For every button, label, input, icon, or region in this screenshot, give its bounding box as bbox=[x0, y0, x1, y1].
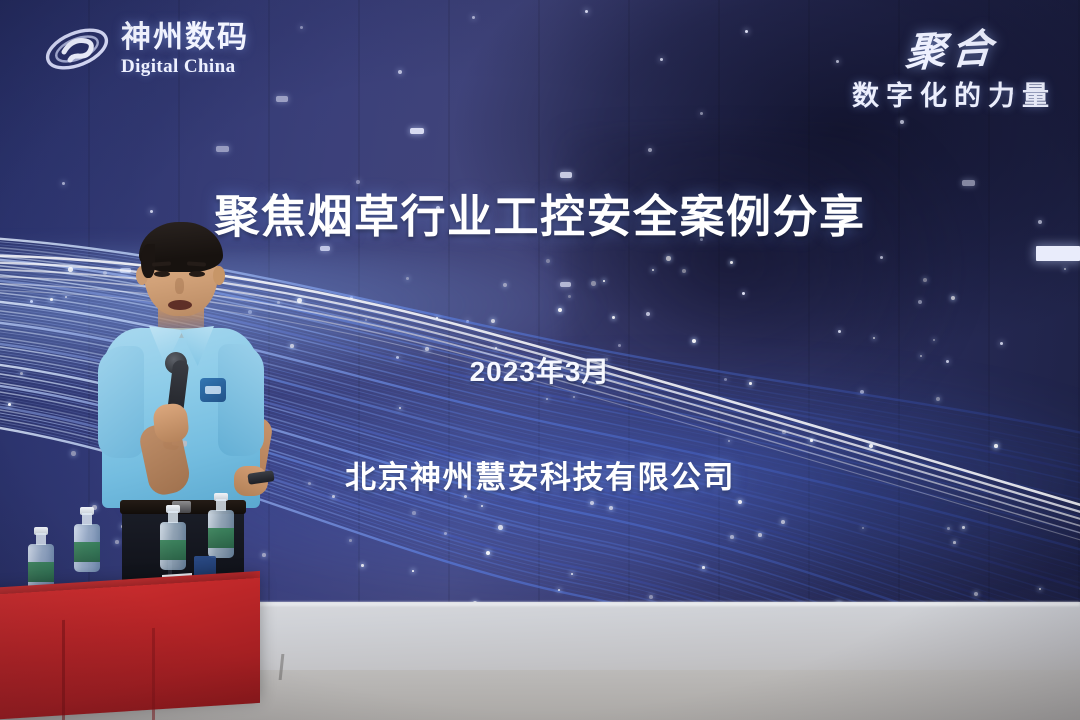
wave-sparkle bbox=[436, 317, 438, 319]
wave-sparkle bbox=[951, 296, 955, 300]
wave-sparkle bbox=[277, 301, 280, 304]
wave-sparkle bbox=[974, 592, 978, 596]
bottle-neck bbox=[216, 499, 226, 511]
wave-sparkle bbox=[412, 570, 414, 572]
wave-sparkle bbox=[873, 337, 875, 339]
wave-sparkle bbox=[65, 296, 67, 298]
bottle-body bbox=[208, 510, 234, 558]
speaker-right-hand bbox=[152, 402, 190, 443]
wave-sparkle bbox=[782, 430, 786, 434]
wave-sparkle bbox=[349, 539, 352, 542]
digital-china-logo: 神州数码 Digital China bbox=[42, 18, 249, 80]
wave-sparkle bbox=[730, 535, 734, 539]
wave-sparkle bbox=[666, 256, 671, 261]
wave-sparkle bbox=[399, 407, 401, 409]
wave-sparkle bbox=[361, 564, 364, 567]
wave-sparkle bbox=[612, 316, 615, 319]
bottle-neck bbox=[168, 511, 178, 523]
wave-sparkle bbox=[573, 396, 575, 398]
logo-name-cn: 神州数码 bbox=[121, 23, 249, 53]
slogan-subtitle: 数字化的力量 bbox=[852, 74, 1056, 113]
conference-stage-photo: 神州数码 Digital China 聚合 数字化的力量 聚焦烟草行业工控安全案… bbox=[0, 0, 1080, 720]
bottle-body bbox=[74, 524, 100, 572]
wave-sparkle bbox=[728, 440, 730, 442]
wave-sparkle bbox=[994, 444, 998, 448]
wave-sparkle bbox=[558, 589, 560, 591]
wave-sparkle bbox=[730, 261, 733, 264]
wave-sparkle bbox=[50, 298, 53, 301]
wave-sparkle bbox=[591, 281, 596, 286]
wave-sparkle bbox=[933, 339, 935, 341]
wave-sparkle bbox=[738, 500, 742, 504]
wave-sparkle bbox=[953, 541, 956, 544]
wave-sparkle bbox=[558, 308, 562, 312]
wave-sparkle bbox=[702, 566, 705, 569]
speaker-nose bbox=[175, 278, 184, 294]
wave-sparkle bbox=[481, 505, 483, 507]
wave-sparkle bbox=[568, 295, 571, 298]
table-drape-fold bbox=[152, 628, 155, 720]
wave-sparkle bbox=[365, 319, 367, 321]
speaker-eye-right bbox=[189, 271, 205, 277]
speaker-mouth bbox=[168, 300, 192, 310]
wave-sparkle bbox=[810, 439, 813, 442]
wave-sparkle bbox=[862, 527, 864, 529]
wave-sparkle bbox=[947, 527, 950, 530]
wave-sparkle bbox=[546, 259, 550, 263]
swirl-galaxy-logo-icon bbox=[42, 18, 112, 80]
event-slogan: 聚合 数字化的力量 bbox=[852, 18, 1056, 113]
bottle-label bbox=[160, 540, 186, 560]
table-drape-fold bbox=[62, 620, 65, 720]
wave-sparkle bbox=[406, 277, 409, 280]
wave-sparkle bbox=[486, 551, 490, 555]
wave-sparkle bbox=[498, 525, 503, 530]
wave-sparkle bbox=[962, 526, 965, 529]
wave-sparkle bbox=[290, 344, 294, 348]
wave-sparkle bbox=[649, 595, 653, 599]
wave-sparkle bbox=[68, 267, 73, 272]
wave-sparkle bbox=[590, 501, 594, 505]
bottle-label bbox=[208, 528, 234, 548]
bottle-body bbox=[160, 522, 186, 570]
wave-sparkle bbox=[609, 506, 613, 510]
wave-sparkle bbox=[503, 283, 507, 287]
screen-edge-light-bar bbox=[1036, 246, 1080, 261]
wave-sparkle bbox=[8, 403, 11, 406]
water-bottle bbox=[74, 524, 100, 572]
wave-sparkle bbox=[546, 398, 548, 400]
wave-sparkle bbox=[936, 397, 940, 401]
bottle-label bbox=[74, 542, 100, 562]
wave-sparkle bbox=[692, 339, 696, 343]
wave-sparkle bbox=[571, 573, 573, 575]
water-bottle bbox=[160, 522, 186, 570]
wave-sparkle bbox=[682, 269, 686, 273]
logo-name-en: Digital China bbox=[121, 57, 249, 76]
speaker-logo-badge bbox=[200, 378, 226, 402]
wave-sparkle bbox=[652, 269, 654, 271]
bottle-neck bbox=[82, 513, 92, 525]
wave-sparkle bbox=[495, 347, 497, 349]
red-table-drape bbox=[0, 578, 260, 720]
wave-sparkle bbox=[1039, 588, 1041, 590]
wave-sparkle bbox=[412, 511, 416, 515]
wave-sparkle bbox=[869, 444, 873, 448]
water-bottle bbox=[208, 510, 234, 558]
wave-sparkle bbox=[1064, 268, 1066, 270]
wave-sparkle bbox=[603, 280, 605, 282]
slogan-calligraphy: 聚合 bbox=[904, 16, 1001, 79]
bottle-label bbox=[28, 562, 54, 582]
bottle-neck bbox=[36, 533, 46, 545]
wave-sparkle bbox=[758, 533, 762, 537]
wave-sparkle bbox=[297, 298, 302, 303]
wave-sparkle bbox=[923, 278, 927, 282]
wave-sparkle bbox=[491, 319, 495, 323]
wave-sparkle bbox=[781, 520, 785, 524]
speaker-eye-left bbox=[154, 271, 170, 277]
speaker-ear-right bbox=[213, 266, 225, 285]
wave-sparkle bbox=[444, 532, 447, 535]
